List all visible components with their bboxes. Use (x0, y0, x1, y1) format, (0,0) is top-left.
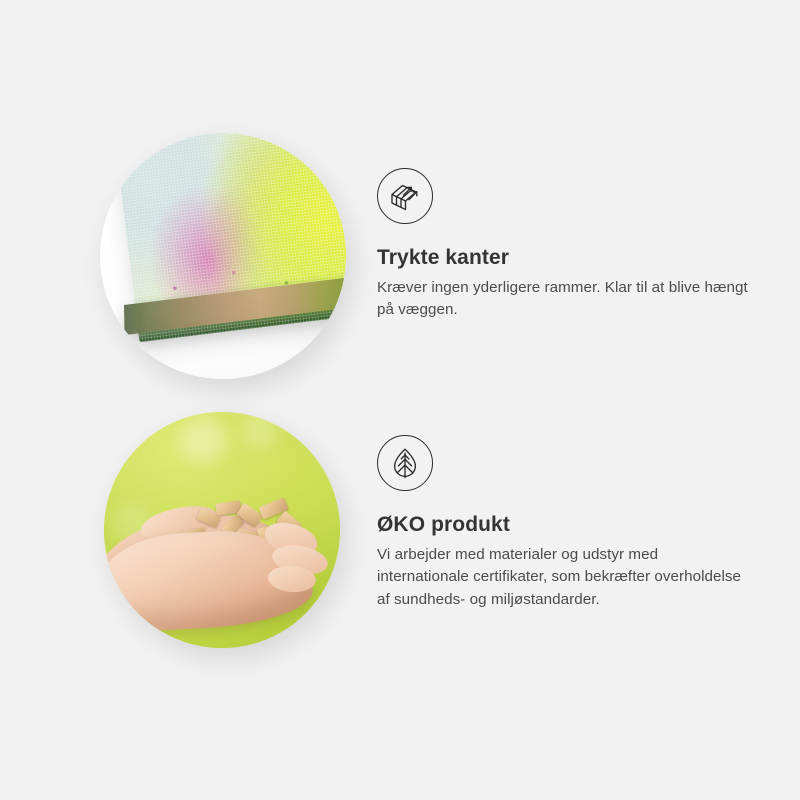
feature-printed-edges: Trykte kanter Kræver ingen yderligere ra… (0, 0, 800, 400)
product-benefits-page: Trykte kanter Kræver ingen yderligere ra… (0, 0, 800, 800)
feature-printed-edges-content: Trykte kanter Kræver ingen yderligere ra… (377, 168, 767, 322)
leaf-icon (377, 435, 433, 491)
feature-eco-product: ØKO produkt Vi arbejder med materialer o… (0, 400, 800, 800)
feature-eco-product-title: ØKO produkt (377, 513, 767, 537)
feature-eco-product-content: ØKO produkt Vi arbejder med materialer o… (377, 435, 767, 611)
canvas-print-corner-photo (100, 133, 346, 379)
canvas-wrapped-edge-icon (377, 168, 433, 224)
feature-printed-edges-media (100, 133, 346, 379)
feature-eco-product-media (104, 412, 340, 648)
feature-printed-edges-title: Trykte kanter (377, 246, 767, 270)
hands-holding-wood-chips-photo (104, 412, 340, 648)
feature-eco-product-description: Vi arbejder med materialer og udstyr med… (377, 544, 749, 611)
feature-printed-edges-description: Kræver ingen yderligere rammer. Klar til… (377, 277, 755, 322)
